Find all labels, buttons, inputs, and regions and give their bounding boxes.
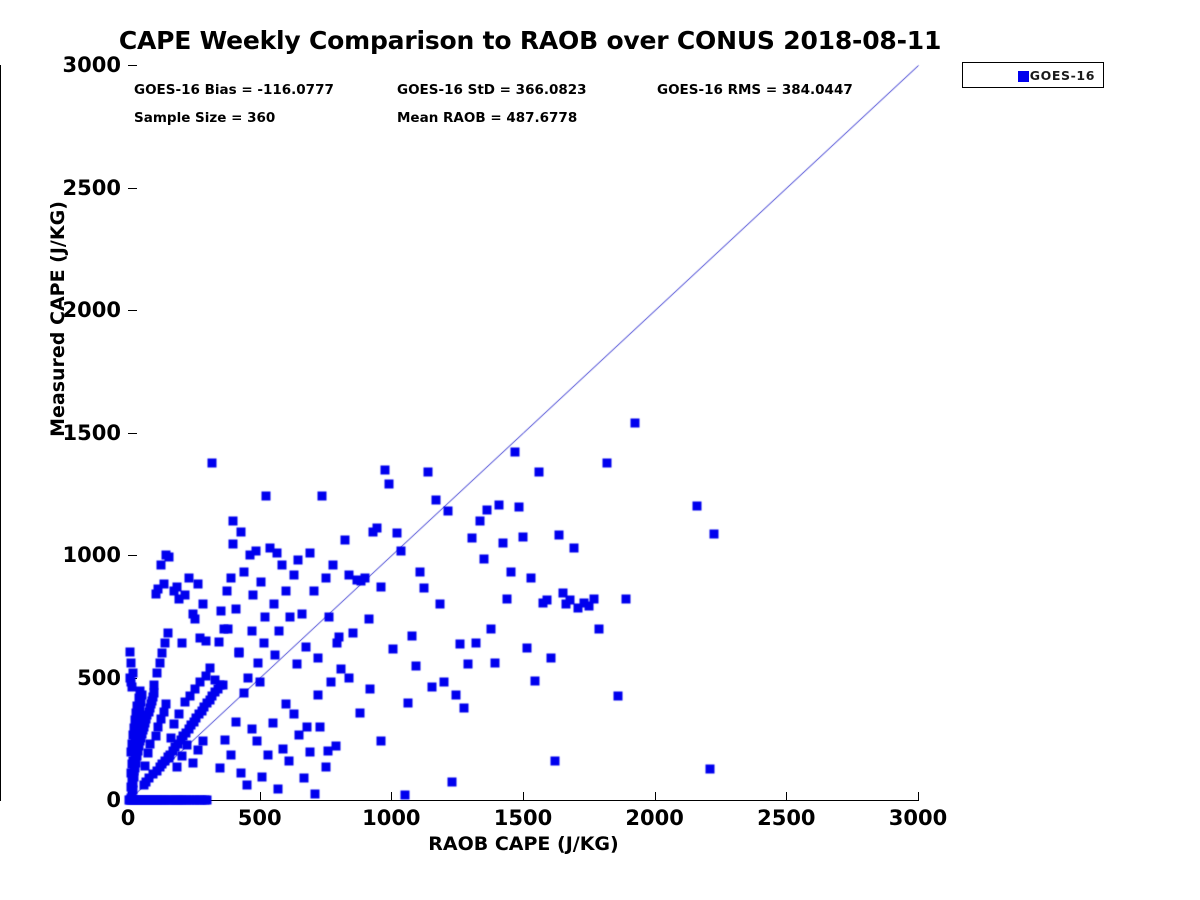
legend-label-goes-16: GOES-16 — [1030, 68, 1095, 83]
scatter-points-layer — [0, 0, 1200, 900]
legend-swatch-goes-16 — [1018, 71, 1029, 82]
chart-figure: CAPE Weekly Comparison to RAOB over CONU… — [0, 0, 1200, 900]
legend-box[interactable]: GOES-16 — [962, 62, 1104, 88]
